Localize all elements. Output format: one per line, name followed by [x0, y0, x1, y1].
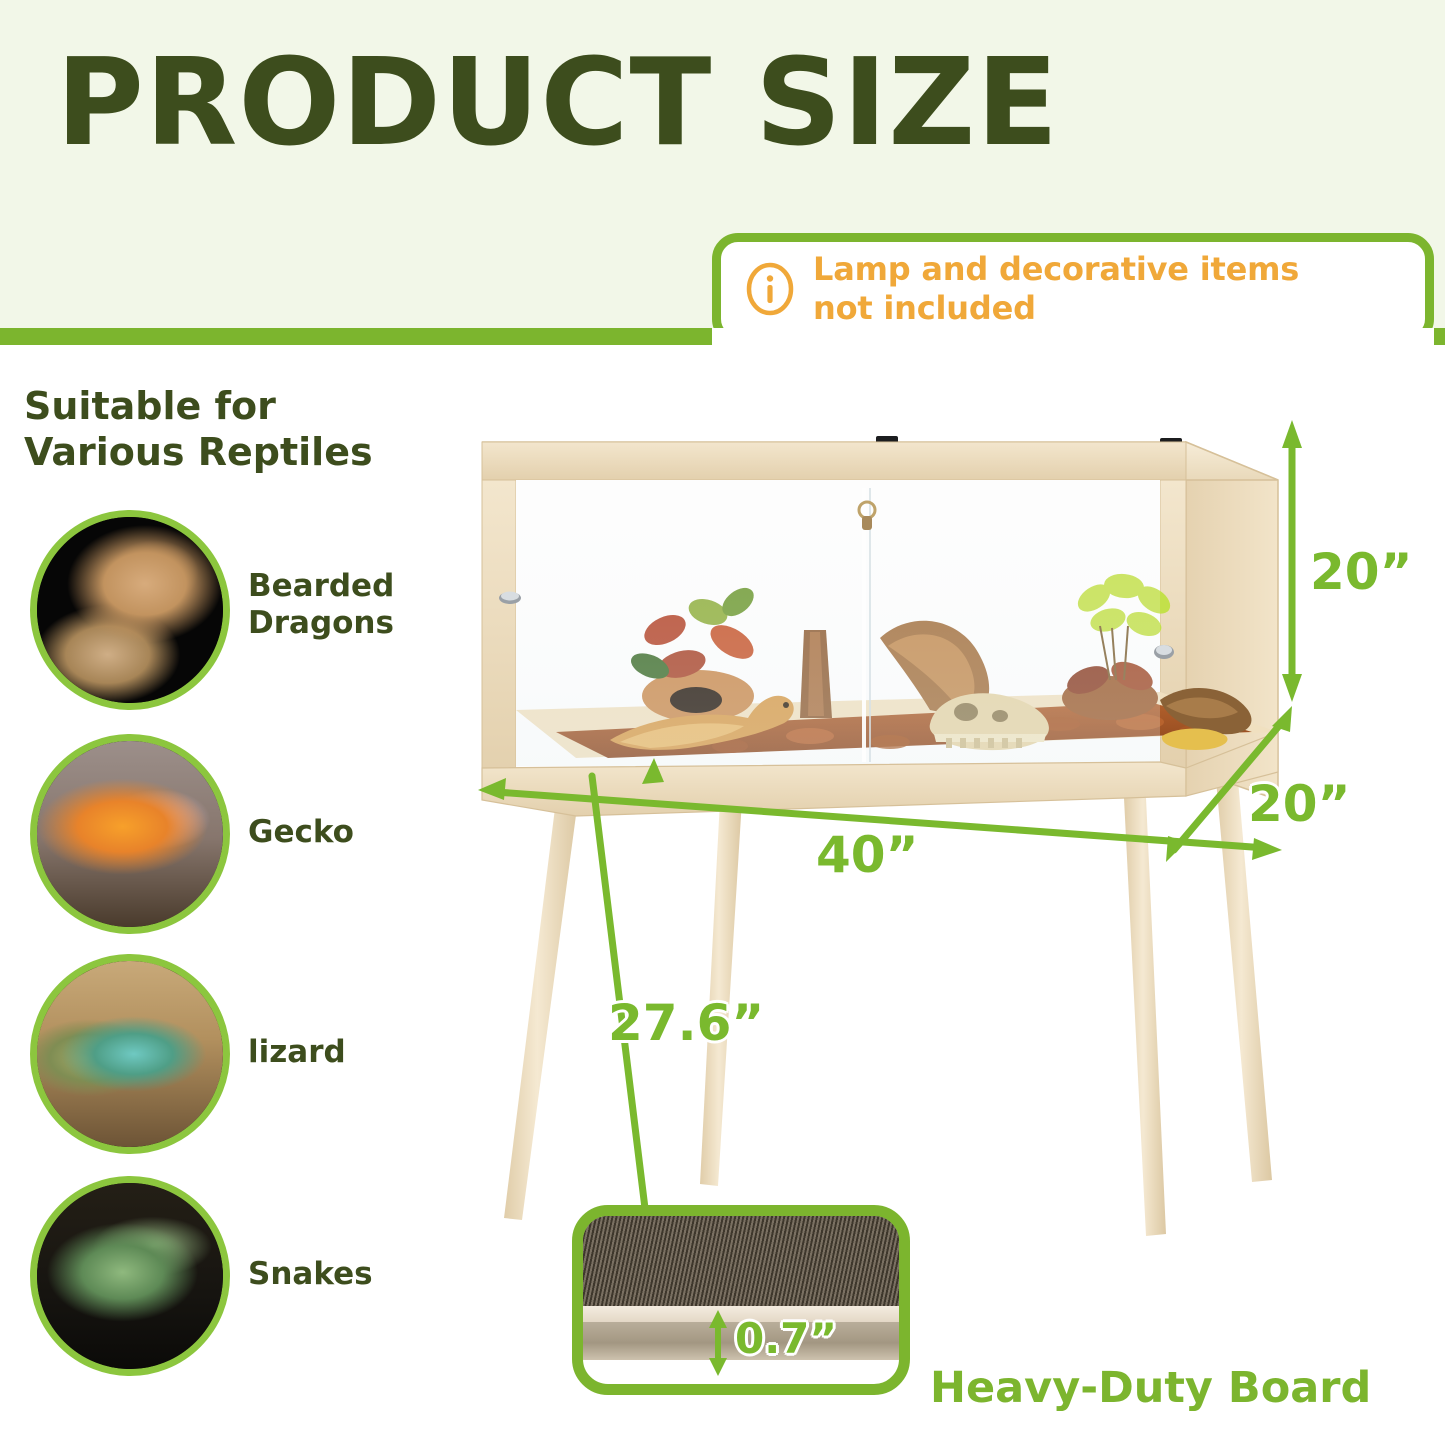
terrarium-cabinet — [482, 436, 1278, 816]
dimension-depth: 20” — [1248, 775, 1350, 833]
page-title: PRODUCT SIZE — [56, 44, 1416, 164]
list-item-label: Snakes — [248, 1256, 444, 1293]
notice-line-1: Lamp and decorative items — [813, 250, 1299, 288]
info-circle-icon — [745, 262, 795, 316]
suitable-heading-line-1: Suitable for — [24, 384, 276, 428]
door-knob — [1154, 645, 1174, 659]
dimension-leg-height: 27.6” — [608, 994, 764, 1052]
board-thickness-label: 0.7” — [735, 1314, 837, 1363]
notice-line-2: not included — [813, 289, 1036, 327]
board-title: Heavy-Duty Board — [930, 1363, 1371, 1413]
list-item-label: lizard — [248, 1034, 444, 1071]
gecko-photo — [30, 734, 230, 934]
dimension-height: 20” — [1310, 543, 1412, 601]
heavy-duty-board-detail: 0.7” — [572, 1205, 910, 1395]
snake-photo — [30, 1176, 230, 1376]
notice-band-mask — [712, 328, 1434, 350]
bearded-dragon-photo — [30, 510, 230, 710]
suitable-heading: Suitable for Various Reptiles — [24, 383, 444, 476]
lizard-photo — [30, 954, 230, 1154]
list-item-label: Bearded Dragons — [248, 568, 444, 642]
board-thickness-arrow — [701, 1308, 735, 1378]
product-size-infographic: PRODUCT SIZE Lamp and decorative items n… — [0, 0, 1445, 1434]
dimension-width: 40” — [816, 826, 918, 884]
suitable-heading-line-2: Various Reptiles — [24, 430, 373, 474]
board-mesh-surface — [583, 1216, 899, 1306]
notice-text: Lamp and decorative items not included — [813, 250, 1299, 328]
list-item-label: Gecko — [248, 814, 444, 851]
